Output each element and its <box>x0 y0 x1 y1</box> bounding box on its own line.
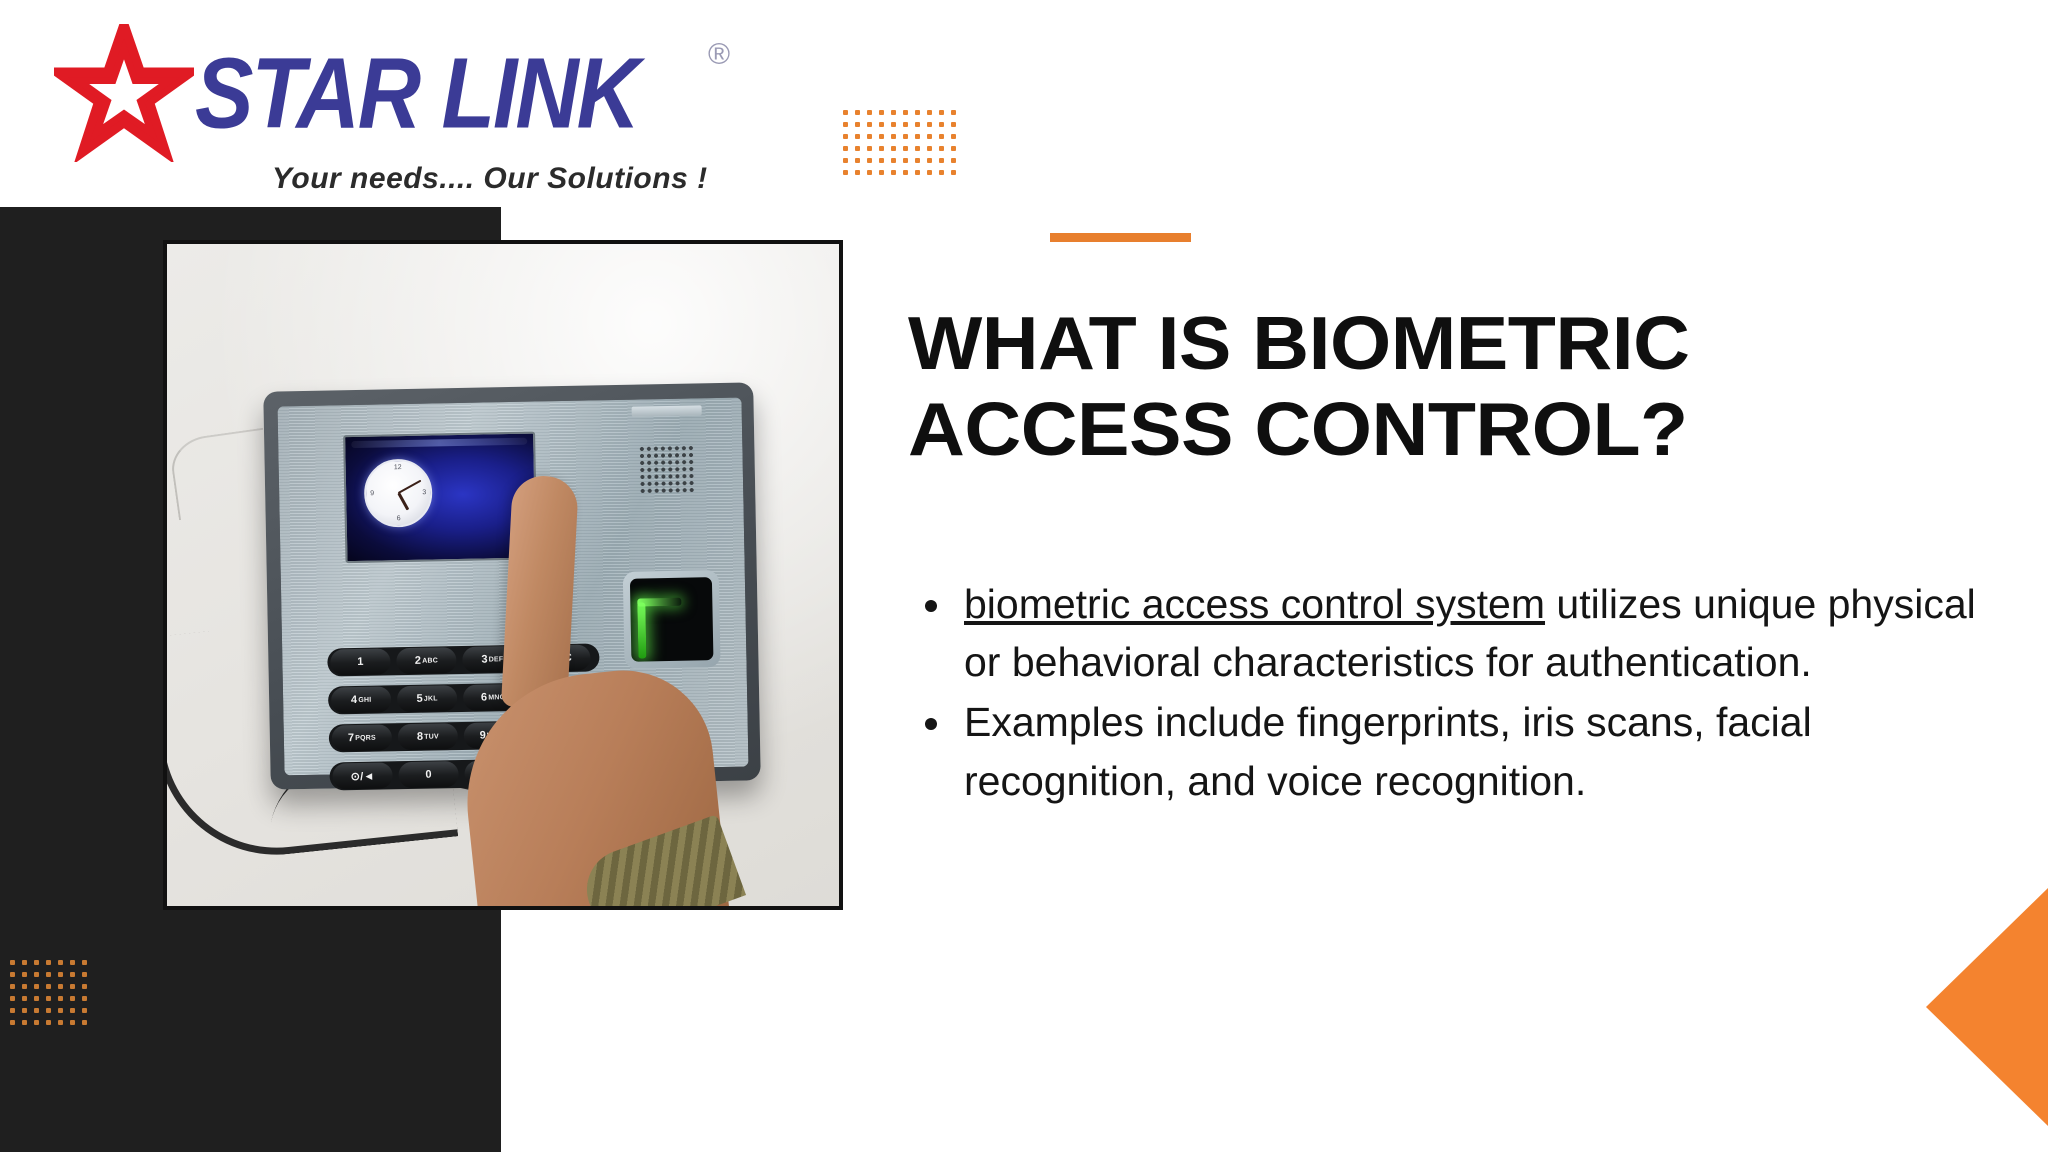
dot <box>879 110 884 115</box>
sensor-glow-horizontal <box>637 598 681 607</box>
dot <box>915 170 920 175</box>
dot <box>879 146 884 151</box>
dot <box>70 972 75 977</box>
dot <box>10 1008 15 1013</box>
terminal-display: 12 3 6 9 <box>343 432 537 564</box>
clock-numeral-6: 6 <box>397 515 401 522</box>
dot <box>867 146 872 151</box>
biometric-device-photo: 12 3 6 9 12ABC3DEFESC4GHI5JKL6MN <box>163 240 843 910</box>
key-main-label: 8 <box>417 731 424 743</box>
key-main-label: 2 <box>415 655 422 667</box>
star-icon <box>54 24 194 162</box>
clock-hour-hand <box>397 492 409 510</box>
dot <box>867 158 872 163</box>
key-sub-label: PQRS <box>355 734 376 741</box>
dot <box>855 170 860 175</box>
keypad-key-5[interactable]: 5JKL <box>397 685 457 712</box>
dot <box>939 158 944 163</box>
dot <box>70 984 75 989</box>
dot <box>58 984 63 989</box>
dot <box>843 134 848 139</box>
key-sub-label: JKL <box>424 695 438 702</box>
dot <box>46 960 51 965</box>
key-sub-label: GHI <box>358 696 371 703</box>
dot <box>10 984 15 989</box>
inline-link[interactable]: biometric access control system <box>964 581 1545 627</box>
sensor-glow-vertical <box>637 602 646 658</box>
dot <box>46 984 51 989</box>
keypad-key-4[interactable]: 4GHI <box>331 686 391 713</box>
dot <box>939 170 944 175</box>
dot <box>34 1020 39 1025</box>
list-item: biometric access control system utilizes… <box>956 575 2013 691</box>
dot-grid-bottom <box>10 960 94 1032</box>
dot <box>82 960 87 965</box>
dot <box>915 122 920 127</box>
dot <box>58 960 63 965</box>
dot <box>22 972 27 977</box>
key-main-label: 6 <box>481 691 488 703</box>
bullet-list: biometric access control system utilizes… <box>908 575 2013 812</box>
dot <box>855 146 860 151</box>
key-sub-label: TUV <box>424 733 439 740</box>
dot <box>927 122 932 127</box>
key-main-label: 5 <box>416 693 423 705</box>
keypad-key-0[interactable]: 0 <box>398 761 458 788</box>
dot <box>855 110 860 115</box>
dot <box>22 996 27 1001</box>
dot <box>903 170 908 175</box>
fingerprint-sensor-window <box>630 577 714 662</box>
dot <box>891 146 896 151</box>
dot <box>927 110 932 115</box>
dot <box>70 1020 75 1025</box>
dot <box>951 146 956 151</box>
dot <box>46 996 51 1001</box>
dot <box>22 960 27 965</box>
keypad-key-1[interactable]: 1 <box>330 648 390 675</box>
dot <box>903 110 908 115</box>
keypad-key-8[interactable]: 8TUV <box>398 723 458 750</box>
dot <box>951 110 956 115</box>
speaker-grille-icon <box>638 444 695 493</box>
dot <box>58 1008 63 1013</box>
slide: STAR LINK ® Your needs.... Our Solutions… <box>0 0 2048 1152</box>
dot <box>903 158 908 163</box>
finger <box>501 474 579 709</box>
key-main-label: 4 <box>351 694 358 706</box>
dot <box>843 122 848 127</box>
dot <box>855 122 860 127</box>
key-sub-label: DEF <box>489 656 504 663</box>
dot <box>46 1008 51 1013</box>
dot <box>891 110 896 115</box>
dot <box>46 972 51 977</box>
dot <box>34 996 39 1001</box>
dot <box>70 996 75 1001</box>
keypad-key-[interactable]: ⊙/◄ <box>332 762 392 789</box>
dot <box>951 134 956 139</box>
brand-logo: STAR LINK ® Your needs.... Our Solutions… <box>50 10 710 205</box>
dot <box>70 1008 75 1013</box>
dot <box>891 158 896 163</box>
dot <box>867 122 872 127</box>
dot <box>10 972 15 977</box>
dot <box>915 110 920 115</box>
dot <box>82 1008 87 1013</box>
key-main-label: 7 <box>348 732 355 744</box>
dot <box>915 158 920 163</box>
dot <box>22 1008 27 1013</box>
dot <box>951 158 956 163</box>
dot <box>867 110 872 115</box>
list-item-text: Examples include fingerprints, iris scan… <box>964 699 1812 803</box>
dot <box>903 122 908 127</box>
dot <box>46 1020 51 1025</box>
arrow-left-decoration-icon <box>1918 888 2048 1126</box>
brand-name: STAR LINK <box>195 37 638 152</box>
dot <box>843 158 848 163</box>
dot <box>915 146 920 151</box>
clock-numeral-9: 9 <box>370 490 374 497</box>
dot <box>939 122 944 127</box>
dot <box>867 170 872 175</box>
shirt-sleeve <box>576 814 746 910</box>
dot <box>915 134 920 139</box>
dot <box>82 1020 87 1025</box>
dot <box>867 134 872 139</box>
dot <box>34 984 39 989</box>
dot <box>927 134 932 139</box>
dot <box>939 146 944 151</box>
dot <box>34 972 39 977</box>
dot <box>843 170 848 175</box>
clock-numeral-12: 12 <box>394 464 402 471</box>
dot <box>903 146 908 151</box>
key-main-label: 3 <box>481 653 488 665</box>
dot <box>82 984 87 989</box>
dot <box>843 110 848 115</box>
key-sub-label: ABC <box>422 657 438 664</box>
dot <box>22 1020 27 1025</box>
dot <box>34 960 39 965</box>
clock-minute-hand <box>398 480 422 494</box>
dot <box>82 972 87 977</box>
dot <box>58 972 63 977</box>
dot <box>22 984 27 989</box>
clock-icon: 12 3 6 9 <box>364 459 433 528</box>
page-title: WHAT IS BIOMETRIC ACCESS CONTROL? <box>908 300 1885 473</box>
dot <box>855 134 860 139</box>
dot <box>82 996 87 1001</box>
dot <box>58 996 63 1001</box>
keypad-key-7[interactable]: 7PQRS <box>332 724 392 751</box>
dot <box>58 1020 63 1025</box>
dot <box>843 146 848 151</box>
key-main-label: 0 <box>425 769 432 781</box>
dot <box>10 960 15 965</box>
fingerprint-sensor <box>623 570 721 669</box>
screen-glare <box>351 438 527 448</box>
dot <box>34 1008 39 1013</box>
dot <box>927 146 932 151</box>
dot <box>891 122 896 127</box>
dot <box>879 134 884 139</box>
dot <box>951 170 956 175</box>
keypad-key-2[interactable]: 2ABC <box>396 647 456 674</box>
dot <box>939 110 944 115</box>
dot <box>891 134 896 139</box>
list-item: Examples include fingerprints, iris scan… <box>956 693 2013 809</box>
card-reader-slot <box>632 405 702 416</box>
clock-numeral-3: 3 <box>422 489 426 496</box>
dot <box>10 1020 15 1025</box>
dot-grid-top <box>843 110 963 182</box>
key-main-label: 1 <box>357 656 364 668</box>
dot <box>879 158 884 163</box>
dot <box>70 960 75 965</box>
dot <box>879 170 884 175</box>
dot <box>927 158 932 163</box>
dot <box>927 170 932 175</box>
dot <box>10 996 15 1001</box>
brand-tagline: Your needs.... Our Solutions ! <box>272 162 708 196</box>
dot <box>891 170 896 175</box>
registered-trademark-icon: ® <box>708 38 730 72</box>
dot <box>879 122 884 127</box>
key-main-label: ⊙/◄ <box>351 769 375 782</box>
dot <box>951 122 956 127</box>
dot <box>939 134 944 139</box>
dot <box>903 134 908 139</box>
accent-bar <box>1050 233 1191 242</box>
dot <box>855 158 860 163</box>
